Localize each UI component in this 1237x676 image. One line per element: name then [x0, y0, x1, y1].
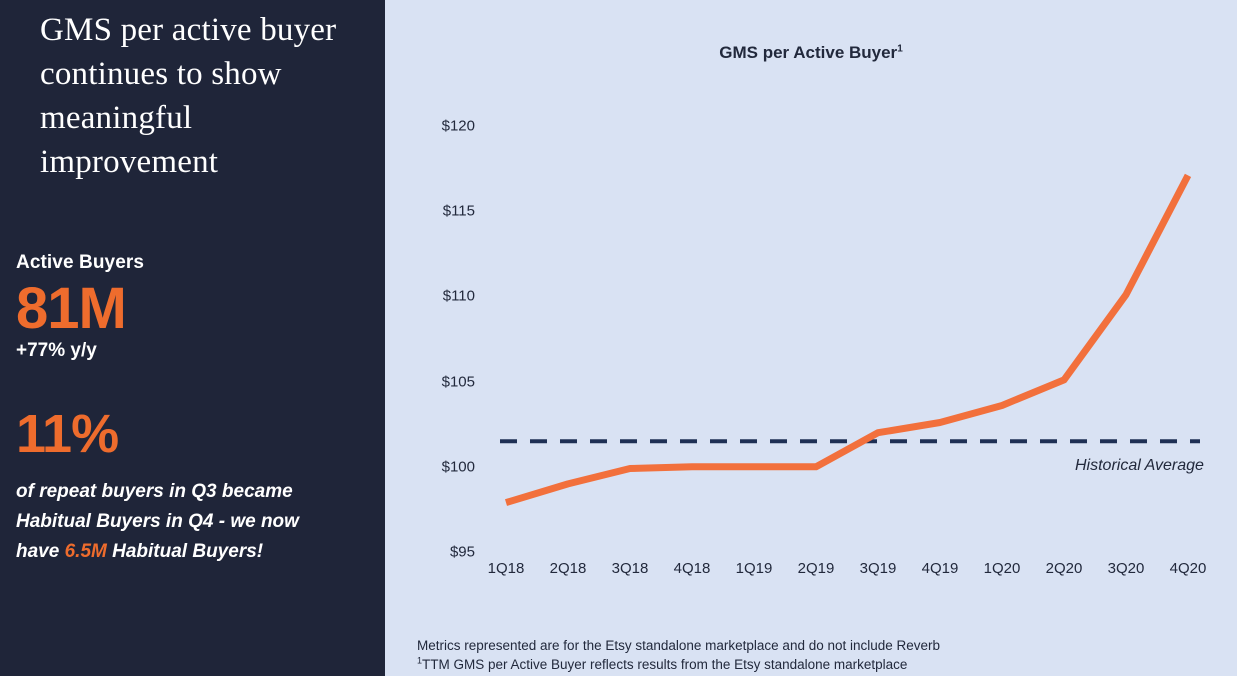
line-chart-plot: $95$100$105$110$115$120 1Q182Q183Q184Q18…: [385, 0, 1237, 620]
x-axis-tick-label: 3Q18: [612, 560, 649, 577]
habitual-buyers-description: of repeat buyers in Q3 became Habitual B…: [16, 477, 316, 567]
x-axis-tick-label: 1Q20: [984, 560, 1021, 577]
x-axis-tick-label: 2Q19: [798, 560, 835, 577]
y-axis-tick-label: $115: [405, 203, 475, 220]
x-axis-tick-label: 3Q19: [860, 560, 897, 577]
x-axis-tick-label: 4Q19: [922, 560, 959, 577]
x-axis-tick-label: 1Q18: [488, 560, 525, 577]
chart-footnotes: Metrics represented are for the Etsy sta…: [417, 636, 940, 674]
x-axis-tick-label: 1Q19: [736, 560, 773, 577]
y-axis-tick-label: $95: [405, 544, 475, 561]
footnote-line-2-text: TTM GMS per Active Buyer reflects result…: [422, 657, 907, 672]
habitual-buyers-count: 6.5M: [65, 541, 107, 562]
x-axis-tick-label: 2Q18: [550, 560, 587, 577]
repeat-buyer-percent-value: 11%: [16, 405, 366, 463]
habitual-buyers-stat-block: 11% of repeat buyers in Q3 became Habitu…: [16, 405, 366, 567]
x-axis-ticks: 1Q182Q183Q184Q181Q192Q193Q194Q191Q202Q20…: [385, 560, 1237, 590]
active-buyers-change: +77% y/y: [16, 340, 366, 362]
active-buyers-label: Active Buyers: [16, 252, 366, 274]
historical-average-label: Historical Average: [1075, 457, 1204, 475]
y-axis-tick-label: $110: [405, 288, 475, 305]
left-panel: GMS per active buyer continues to show m…: [0, 0, 385, 676]
habitual-desc-part2: Habitual Buyers!: [107, 541, 263, 562]
y-axis-tick-label: $100: [405, 458, 475, 475]
chart-panel: GMS per Active Buyer1 $95$100$105$110$11…: [385, 0, 1237, 676]
y-axis-tick-label: $120: [405, 118, 475, 135]
x-axis-tick-label: 4Q18: [674, 560, 711, 577]
y-axis-ticks: $95$100$105$110$115$120: [395, 0, 475, 620]
slide: GMS per active buyer continues to show m…: [0, 0, 1237, 676]
gms-per-active-buyer-line: [506, 175, 1188, 502]
active-buyers-value: 81M: [16, 276, 366, 342]
x-axis-tick-label: 3Q20: [1108, 560, 1145, 577]
active-buyers-stat-block: Active Buyers 81M +77% y/y: [16, 252, 366, 362]
page-title: GMS per active buyer continues to show m…: [40, 8, 360, 184]
chart-svg: [385, 0, 1237, 620]
x-axis-tick-label: 2Q20: [1046, 560, 1083, 577]
y-axis-tick-label: $105: [405, 373, 475, 390]
footnote-line-2: 1TTM GMS per Active Buyer reflects resul…: [417, 655, 940, 674]
footnote-line-1: Metrics represented are for the Etsy sta…: [417, 636, 940, 655]
x-axis-tick-label: 4Q20: [1170, 560, 1207, 577]
